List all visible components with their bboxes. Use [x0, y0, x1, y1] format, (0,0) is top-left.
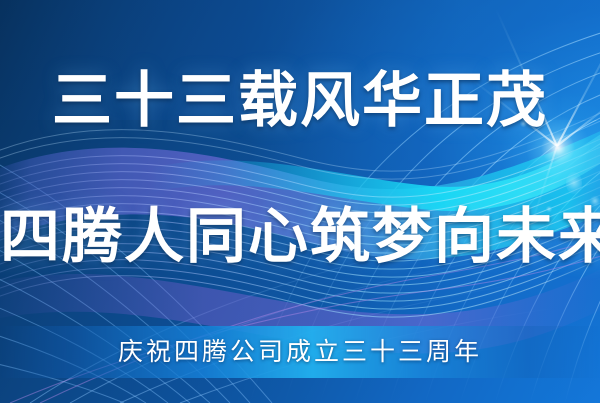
headline-line-2: 四腾人同心筑梦向未来 — [0, 200, 600, 274]
subtitle-text: 庆祝四腾公司成立三十三周年 — [0, 336, 600, 370]
anniversary-banner: 三十三载风华正茂 四腾人同心筑梦向未来 庆祝四腾公司成立三十三周年 — [0, 0, 600, 403]
headline-line-1: 三十三载风华正茂 — [0, 64, 600, 138]
bokeh-dot — [566, 172, 582, 194]
